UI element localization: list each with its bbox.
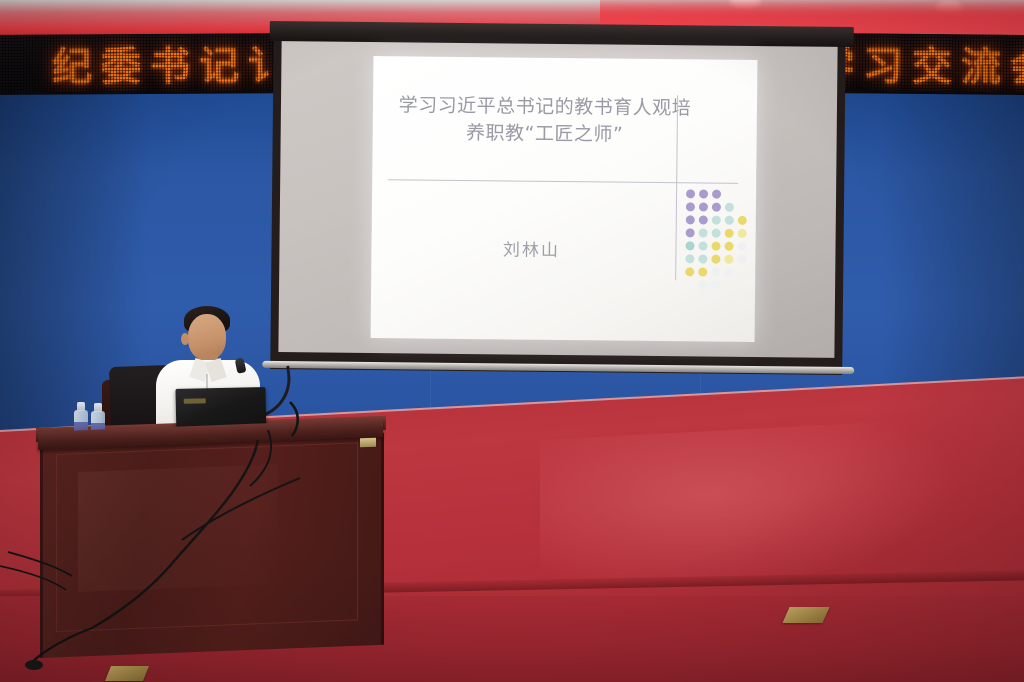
dot-5-1 xyxy=(698,254,707,263)
slide-horizontal-rule xyxy=(388,179,738,184)
dot-7-2 xyxy=(711,281,720,290)
dot-3-2 xyxy=(712,229,721,238)
dot-0-2 xyxy=(712,190,721,199)
dot-0-4 xyxy=(738,190,747,199)
dot-5-2 xyxy=(711,255,720,264)
dot-4-1 xyxy=(698,241,707,250)
dot-2-0 xyxy=(686,215,695,224)
led-banner-left-text: 纪委书记讠 xyxy=(52,33,296,92)
dot-7-0 xyxy=(685,280,694,289)
dot-2-4 xyxy=(738,216,747,225)
projection-screen: 学习习近平总书记的教书育人观培养职教“工匠之师” 刘林山 xyxy=(266,21,854,379)
dot-2-3 xyxy=(725,216,734,225)
dot-0-3 xyxy=(725,190,734,199)
dot-3-3 xyxy=(725,229,734,238)
dot-1-3 xyxy=(725,203,734,212)
dot-1-2 xyxy=(712,203,721,212)
dot-5-3 xyxy=(724,255,733,264)
laptop-brand-logo xyxy=(184,398,206,403)
dot-2-1 xyxy=(699,215,708,224)
dot-3-0 xyxy=(686,228,695,237)
dot-3-4 xyxy=(738,229,747,238)
dot-1-4 xyxy=(738,203,747,212)
dot-4-2 xyxy=(711,242,720,251)
conference-hall-photo: 纪委书记讠 学习交流会 学习习近平总书记的教书育人观培养职教“工匠之师” 刘林山 xyxy=(0,0,1024,682)
presenter-ear xyxy=(181,333,189,345)
dot-3-1 xyxy=(699,228,708,237)
dot-0-0 xyxy=(686,189,695,198)
floor-outlet-plate-left xyxy=(105,666,149,681)
projected-slide: 学习习近平总书记的教书育人观培养职教“工匠之师” 刘林山 xyxy=(371,56,758,342)
podium-brass-latch xyxy=(360,438,376,448)
slide-author-name: 刘林山 xyxy=(471,235,591,261)
dot-7-3 xyxy=(724,281,733,290)
dot-2-2 xyxy=(712,216,721,225)
dot-7-1 xyxy=(698,280,707,289)
dot-5-4 xyxy=(737,255,746,264)
slide-title: 学习习近平总书记的教书育人观培养职教“工匠之师” xyxy=(395,92,696,149)
dot-0-1 xyxy=(699,189,708,198)
dot-4-0 xyxy=(685,241,694,250)
dot-5-0 xyxy=(685,254,694,263)
dot-6-3 xyxy=(724,268,733,277)
dot-4-4 xyxy=(737,242,746,251)
led-banner-left: 纪委书记讠 xyxy=(0,33,296,95)
dot-7-4 xyxy=(737,281,746,290)
dot-4-3 xyxy=(724,242,733,251)
dot-1-1 xyxy=(699,202,708,211)
dot-6-0 xyxy=(685,267,694,276)
dot-1-0 xyxy=(686,202,695,211)
slide-dot-grid-decoration xyxy=(683,187,749,292)
floor-outlet-plate-right xyxy=(782,607,829,623)
dot-6-4 xyxy=(737,268,746,277)
dot-6-2 xyxy=(711,268,720,277)
dot-6-1 xyxy=(698,267,707,276)
podium-highlight xyxy=(78,464,278,592)
wooden-podium xyxy=(38,432,383,660)
